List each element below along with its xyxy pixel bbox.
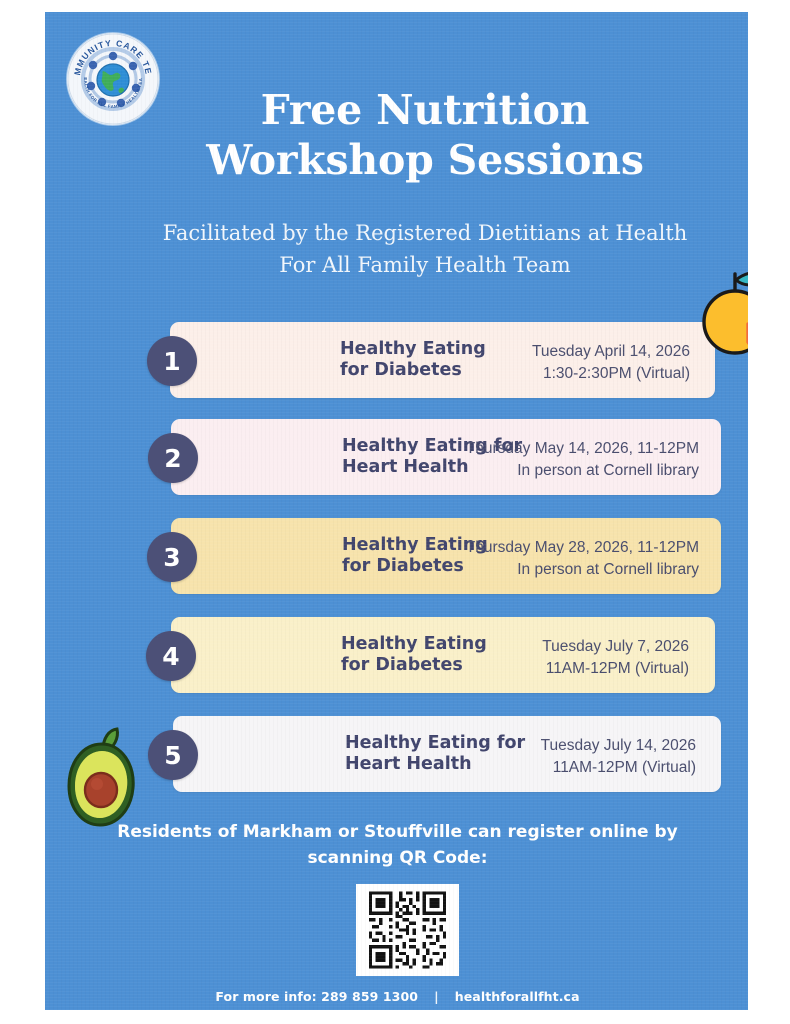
avocado-icon [59, 724, 145, 832]
session-schedule: Tuesday July 14, 2026 11AM-12PM (Virtual… [436, 735, 696, 779]
orange-fruit-icon [690, 260, 748, 368]
scanned-page: COMMUNITY CARE TEAM HEALTH FOR ALL FAMIL… [0, 0, 790, 1024]
session-card[interactable]: Healthy Eating for Diabetes Tuesday Apri… [170, 322, 715, 398]
session-card[interactable]: Healthy Eating for Heart Health Tuesday … [173, 716, 721, 792]
session-number-badge: 5 [148, 730, 198, 780]
session-schedule: Thursday May 14, 2026, 11-12PM In person… [409, 438, 699, 482]
qr-code-icon[interactable] [356, 884, 459, 976]
session-card[interactable]: Healthy Eating for Heart Health Thursday… [171, 419, 721, 495]
phone-label: For more info: 289 859 1300 [215, 989, 418, 1004]
session-row[interactable]: Healthy Eating for Diabetes Tuesday Apri… [45, 322, 748, 414]
session-row[interactable]: Healthy Eating for Diabetes Thursday May… [45, 518, 748, 610]
session-schedule: Thursday May 28, 2026, 11-12PM In person… [409, 537, 699, 581]
session-row[interactable]: Healthy Eating for Diabetes Tuesday July… [45, 617, 748, 709]
nutrition-workshop-poster: COMMUNITY CARE TEAM HEALTH FOR ALL FAMIL… [45, 12, 748, 1010]
session-card[interactable]: Healthy Eating for Diabetes Thursday May… [171, 518, 721, 594]
session-number-badge: 1 [147, 336, 197, 386]
title-block: Free Nutrition Workshop Sessions [160, 85, 690, 185]
footer-divider: | [434, 989, 439, 1004]
session-schedule: Tuesday April 14, 2026 1:30-2:30PM (Virt… [430, 341, 690, 385]
poster-subtitle: Facilitated by the Registered Dietitians… [160, 218, 690, 281]
session-card[interactable]: Healthy Eating for Diabetes Tuesday July… [171, 617, 715, 693]
session-row[interactable]: Healthy Eating for Heart Health Tuesday … [45, 716, 748, 808]
session-number-badge: 2 [148, 433, 198, 483]
community-care-team-logo-icon: COMMUNITY CARE TEAM HEALTH FOR ALL FAMIL… [67, 33, 159, 125]
subtitle-block: Facilitated by the Registered Dietitians… [160, 218, 690, 281]
session-number-badge: 3 [147, 532, 197, 582]
session-list: Healthy Eating for Diabetes Tuesday Apri… [45, 322, 748, 812]
session-number-badge: 4 [146, 631, 196, 681]
session-schedule: Tuesday July 7, 2026 11AM-12PM (Virtual) [429, 636, 689, 680]
website-link[interactable]: healthforallfht.ca [455, 989, 580, 1004]
session-row[interactable]: Healthy Eating for Heart Health Thursday… [45, 419, 748, 511]
contact-footer: For more info: 289 859 1300 | healthfora… [105, 989, 690, 1004]
poster-title: Free Nutrition Workshop Sessions [160, 85, 690, 185]
register-instructions: Residents of Markham or Stouffville can … [105, 820, 690, 872]
